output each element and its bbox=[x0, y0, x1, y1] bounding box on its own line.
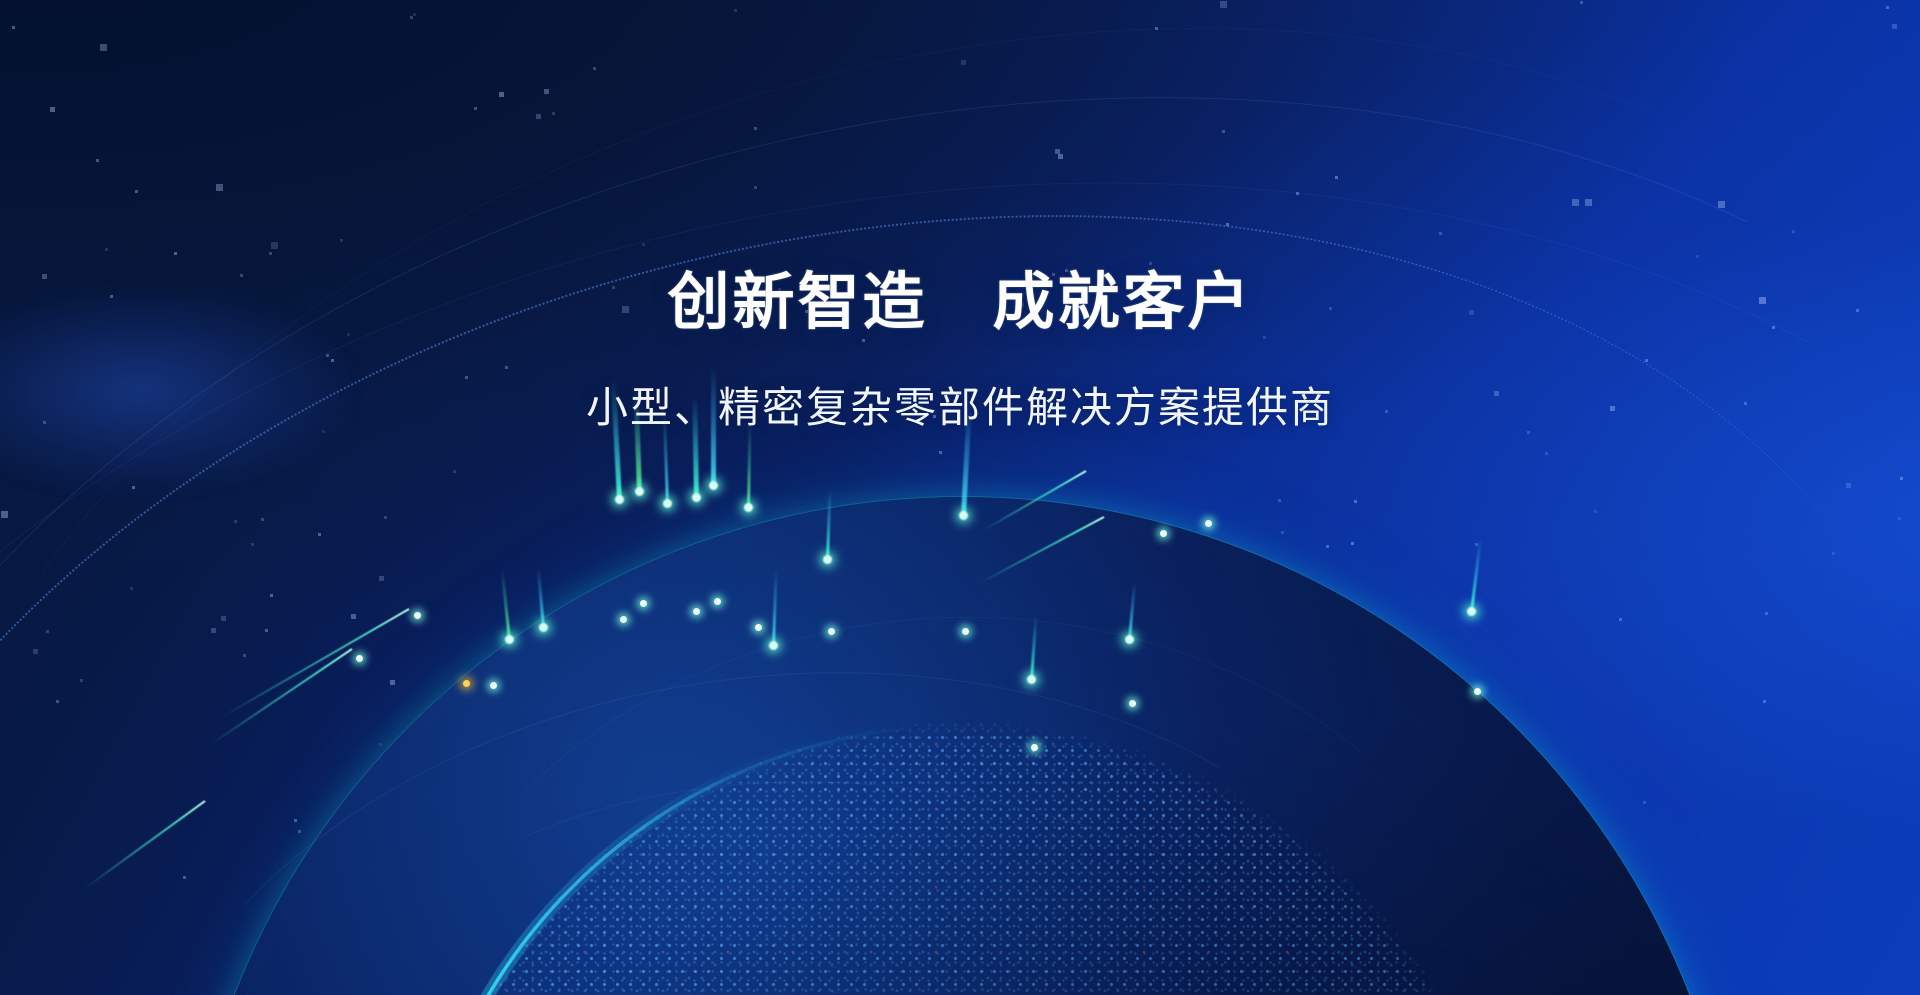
star-particle bbox=[961, 60, 966, 65]
star-particle bbox=[474, 107, 477, 110]
location-pin bbox=[828, 628, 835, 635]
location-pin bbox=[640, 600, 647, 607]
location-pin bbox=[356, 655, 363, 662]
star-particle bbox=[1, 511, 8, 518]
star-particle bbox=[33, 649, 38, 654]
star-particle bbox=[132, 486, 135, 489]
star-particle bbox=[625, 889, 630, 894]
star-particle bbox=[1335, 176, 1338, 179]
star-particle bbox=[1369, 619, 1372, 622]
star-particle bbox=[1572, 199, 1579, 206]
star-particle bbox=[1580, 1, 1583, 4]
star-particle bbox=[734, 9, 737, 12]
location-pin bbox=[693, 608, 700, 615]
hero-banner: 创新智造 成就客户 小型、精密复杂零部件解决方案提供商 bbox=[0, 0, 1920, 995]
star-particle bbox=[1149, 262, 1152, 265]
location-pin bbox=[414, 612, 421, 619]
star-particle bbox=[271, 242, 278, 249]
star-particle bbox=[294, 819, 297, 822]
star-particle bbox=[453, 470, 456, 473]
star-particle bbox=[1278, 499, 1281, 502]
location-pin bbox=[714, 598, 721, 605]
star-particle bbox=[410, 16, 413, 19]
location-pin-highlight bbox=[463, 680, 470, 687]
star-particle bbox=[413, 13, 416, 16]
star-particle bbox=[1643, 801, 1646, 804]
star-particle bbox=[593, 67, 596, 70]
star-particle bbox=[544, 89, 549, 94]
hero-subheadline: 小型、精密复杂零部件解决方案提供商 bbox=[0, 383, 1920, 433]
star-particle bbox=[270, 594, 273, 597]
star-particle bbox=[351, 614, 356, 619]
star-particle bbox=[251, 543, 254, 546]
location-pin bbox=[962, 628, 969, 635]
star-particle bbox=[1792, 230, 1795, 233]
star-particle bbox=[379, 576, 384, 581]
star-field bbox=[0, 0, 1920, 995]
star-particle bbox=[1222, 130, 1225, 133]
star-particle bbox=[1900, 477, 1903, 480]
star-particle bbox=[100, 44, 107, 51]
star-particle bbox=[1326, 545, 1329, 548]
star-particle bbox=[1226, 223, 1229, 226]
star-particle bbox=[887, 553, 890, 556]
star-particle bbox=[80, 679, 83, 682]
star-particle bbox=[105, 248, 108, 251]
star-particle bbox=[1585, 199, 1592, 206]
star-particle bbox=[642, 243, 645, 246]
star-particle bbox=[1163, 830, 1166, 833]
star-particle bbox=[390, 680, 395, 685]
hero-text-block: 创新智造 成就客户 小型、精密复杂零部件解决方案提供商 bbox=[0, 268, 1920, 434]
star-particle bbox=[939, 451, 942, 454]
star-particle bbox=[1594, 510, 1597, 513]
star-particle bbox=[384, 516, 387, 519]
star-particle bbox=[1253, 595, 1258, 600]
star-particle bbox=[1545, 452, 1548, 455]
star-particle bbox=[1281, 531, 1284, 534]
star-particle bbox=[1763, 700, 1766, 703]
star-particle bbox=[130, 587, 133, 590]
star-particle bbox=[56, 700, 59, 703]
star-particle bbox=[12, 26, 15, 29]
star-particle bbox=[1718, 201, 1725, 208]
star-particle bbox=[46, 630, 49, 633]
star-particle bbox=[265, 629, 268, 632]
star-particle bbox=[1832, 552, 1835, 555]
star-particle bbox=[269, 252, 272, 255]
star-particle bbox=[1351, 542, 1354, 545]
star-particle bbox=[1765, 612, 1768, 615]
star-particle bbox=[243, 654, 246, 657]
star-particle bbox=[50, 107, 55, 112]
star-particle bbox=[135, 190, 138, 193]
star-particle bbox=[1037, 870, 1040, 873]
location-pin bbox=[1160, 530, 1167, 537]
star-particle bbox=[1162, 606, 1165, 609]
star-particle bbox=[261, 518, 264, 521]
star-particle bbox=[318, 533, 321, 536]
star-particle bbox=[1468, 892, 1471, 895]
star-particle bbox=[1436, 670, 1439, 673]
star-particle bbox=[458, 797, 461, 800]
star-particle bbox=[211, 628, 216, 633]
star-particle bbox=[298, 830, 301, 833]
star-particle bbox=[1696, 255, 1699, 258]
star-particle bbox=[221, 616, 226, 621]
location-pin bbox=[1474, 688, 1481, 695]
star-particle bbox=[1886, 6, 1889, 9]
star-particle bbox=[379, 743, 382, 746]
star-particle bbox=[754, 127, 757, 130]
star-particle bbox=[1898, 517, 1901, 520]
star-particle bbox=[1354, 500, 1357, 503]
star-particle bbox=[1400, 721, 1405, 726]
star-particle bbox=[183, 876, 186, 879]
location-pin bbox=[1129, 700, 1136, 707]
star-particle bbox=[499, 92, 504, 97]
star-particle bbox=[1892, 24, 1897, 29]
star-particle bbox=[1058, 154, 1063, 159]
star-particle bbox=[599, 878, 602, 881]
star-particle bbox=[1619, 618, 1622, 621]
star-particle bbox=[96, 159, 99, 162]
location-pin bbox=[620, 616, 627, 623]
star-particle bbox=[536, 114, 541, 119]
location-pin bbox=[1031, 744, 1038, 751]
location-pin bbox=[1205, 520, 1212, 527]
star-particle bbox=[340, 239, 343, 242]
star-particle bbox=[216, 184, 223, 191]
star-particle bbox=[1846, 483, 1851, 488]
star-particle bbox=[581, 746, 588, 753]
star-particle bbox=[1155, 27, 1158, 30]
star-particle bbox=[234, 520, 237, 523]
star-particle bbox=[1220, 1, 1227, 8]
star-particle bbox=[1296, 192, 1299, 195]
star-particle bbox=[1439, 232, 1442, 235]
star-particle bbox=[754, 186, 757, 189]
location-pin bbox=[755, 624, 762, 631]
star-particle bbox=[174, 252, 177, 255]
star-particle bbox=[686, 744, 689, 747]
star-particle bbox=[552, 112, 555, 115]
star-particle bbox=[675, 680, 678, 683]
hero-headline: 创新智造 成就客户 bbox=[0, 268, 1920, 337]
location-pin bbox=[490, 682, 497, 689]
